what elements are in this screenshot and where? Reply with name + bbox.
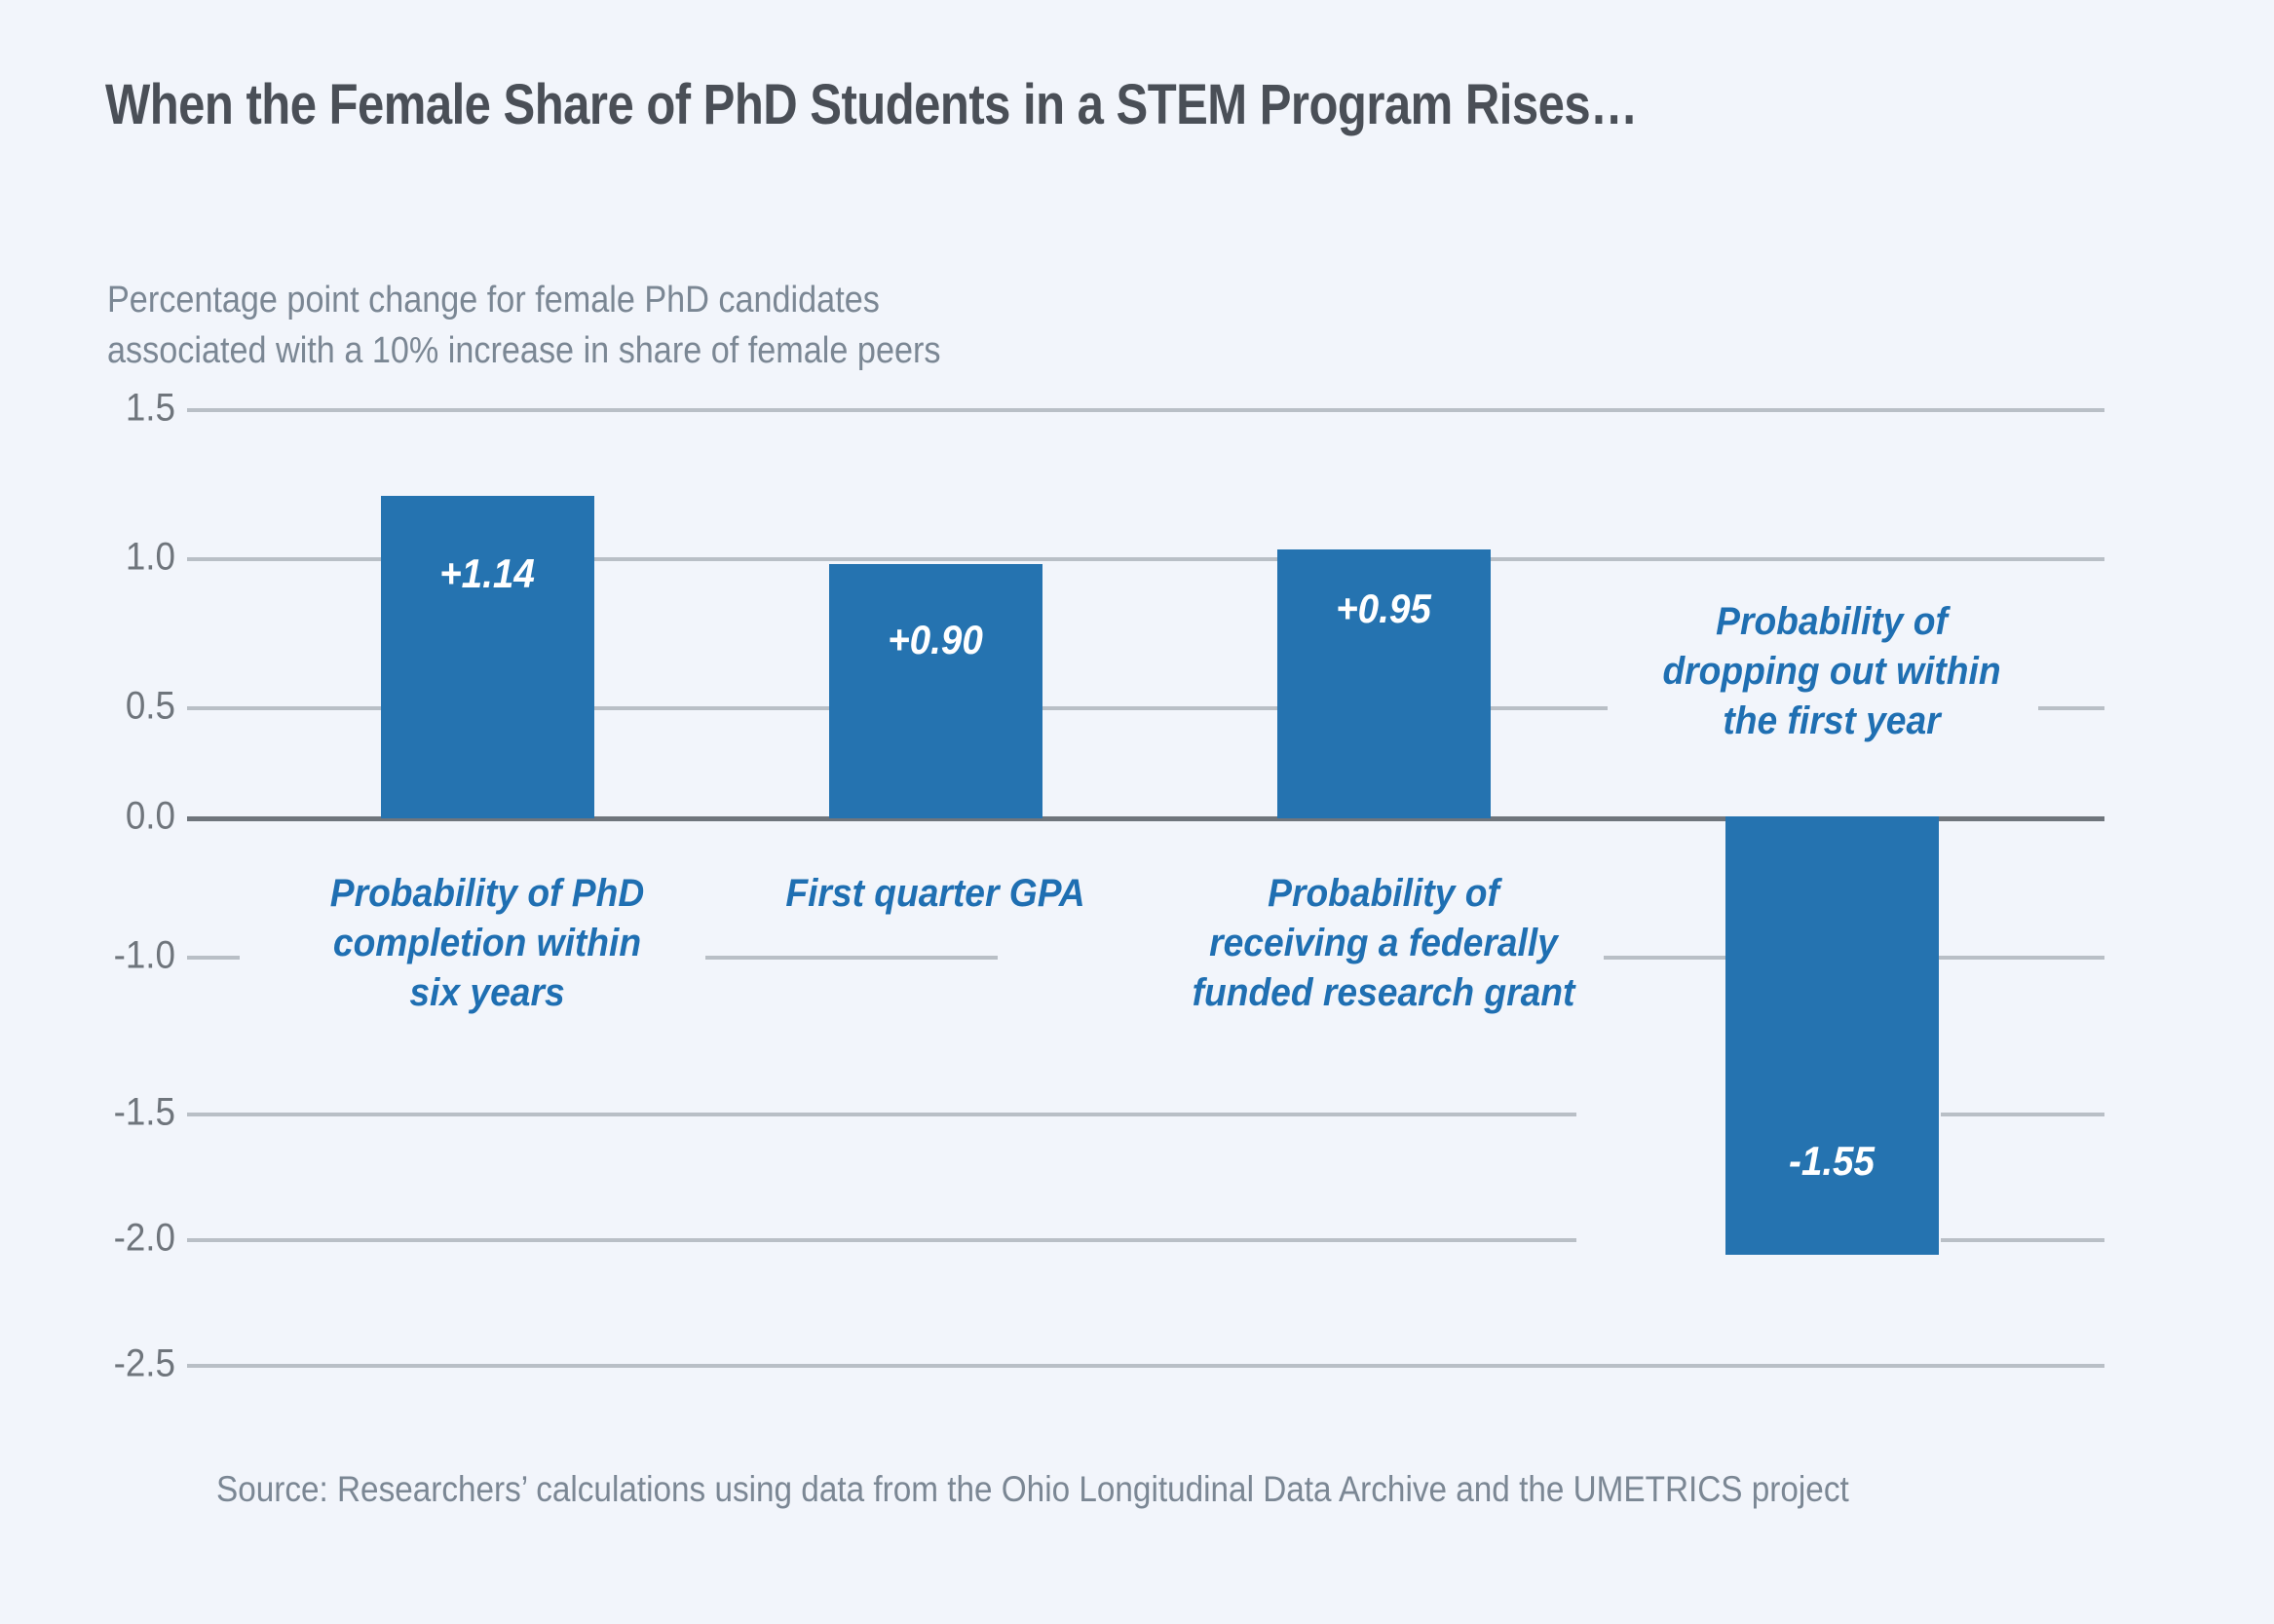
gridline--1.0-seg1 [187,956,240,960]
cat-line: completion within [330,919,644,968]
ytick-label-1.5: 1.5 [41,387,175,431]
cat-line: the first year [1662,697,2000,746]
gridline--2.0-seg1 [187,1238,1576,1242]
ytick-label-0.0: 0.0 [41,795,175,839]
gridline-1.5 [187,408,2104,412]
cat-line: Probability of PhD [330,869,644,919]
chart-figure: When the Female Share of PhD Students in… [0,0,2274,1624]
gridline--2.5-seg1 [187,1364,2104,1368]
gridline--1.5-seg1 [187,1113,1576,1116]
ytick-label--2.5: -2.5 [41,1342,175,1386]
cat-line: First quarter GPA [785,869,1084,919]
category-label-research-grant: Probability of receiving a federally fun… [1193,869,1575,1019]
cat-line: dropping out within [1662,647,2000,697]
bar-value-dropping-out: -1.55 [1789,1138,1875,1185]
ytick-label--2.0: -2.0 [41,1217,175,1261]
bar-phd-completion[interactable] [381,496,594,818]
bar-value-phd-completion: +1.14 [439,550,535,597]
cat-line: Probability of [1662,597,2000,647]
ytick-label--1.5: -1.5 [41,1091,175,1135]
ytick-label--1.0: -1.0 [41,934,175,978]
ytick-label-0.5: 0.5 [41,685,175,729]
category-label-phd-completion: Probability of PhD completion within six… [330,869,644,1019]
category-label-dropping-out: Probability of dropping out within the f… [1662,597,2000,747]
bar-dropping-out[interactable] [1725,816,1939,1255]
gridline--2.0-seg2 [1941,1238,2104,1242]
bar-value-first-quarter-gpa: +0.90 [888,617,983,663]
bar-value-research-grant: +0.95 [1336,585,1431,632]
ytick-label-1.0: 1.0 [41,536,175,580]
cat-line: funded research grant [1193,968,1575,1018]
cat-line: six years [330,968,644,1018]
source-note: Source: Researchers’ calculations using … [216,1469,1849,1510]
gridline--1.0-seg2 [705,956,998,960]
plot-area: 1.5 1.0 0.5 0.0 -1.0 -1.5 -2.0 -2.5 +1.1… [0,0,2274,1624]
cat-line: Probability of [1193,869,1575,919]
category-label-first-quarter-gpa: First quarter GPA [785,869,1084,919]
bar-first-quarter-gpa[interactable] [829,564,1042,818]
gridline-0.5-seg2 [2038,706,2104,710]
cat-line: receiving a federally [1193,919,1575,968]
gridline--1.5-seg2 [1941,1113,2104,1116]
